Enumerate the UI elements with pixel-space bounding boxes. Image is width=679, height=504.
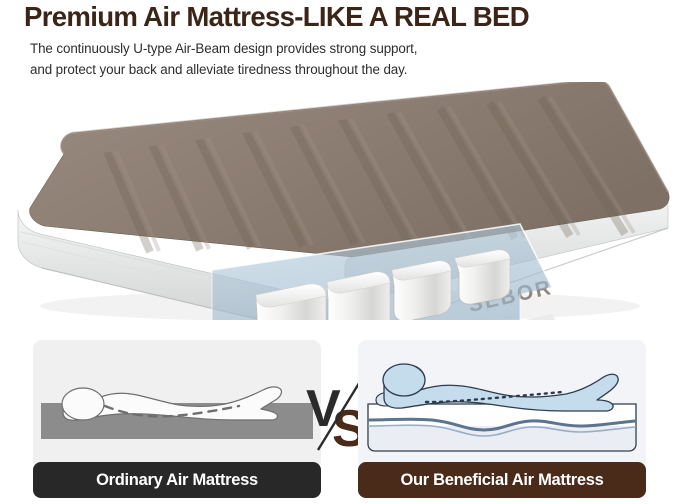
- comparison-panel-ordinary: Ordinary Air Mattress: [33, 340, 321, 504]
- comparison-panel-beneficial: Our Beneficial Air Mattress: [358, 340, 646, 504]
- beneficial-body-head: [383, 364, 425, 396]
- ordinary-mattress-label: Ordinary Air Mattress: [33, 462, 321, 498]
- beneficial-mattress-illustration: [358, 340, 646, 470]
- hero-product-image: SEBOR: [0, 82, 679, 320]
- subtitle-line-2: and protect your back and alleviate tire…: [30, 59, 660, 80]
- beneficial-mattress-label: Our Beneficial Air Mattress: [358, 462, 646, 498]
- product-infographic-page: Premium Air Mattress-LIKE A REAL BED The…: [0, 0, 679, 504]
- comparison-section: Ordinary Air Mattress V S: [0, 336, 679, 504]
- ordinary-mattress-illustration: [33, 340, 321, 470]
- subtitle-line-1: The continuously U-type Air-Beam design …: [30, 38, 660, 59]
- page-title: Premium Air Mattress-LIKE A REAL BED: [24, 1, 654, 33]
- ordinary-body-head: [62, 388, 104, 420]
- beneficial-mattress-base: [369, 426, 635, 450]
